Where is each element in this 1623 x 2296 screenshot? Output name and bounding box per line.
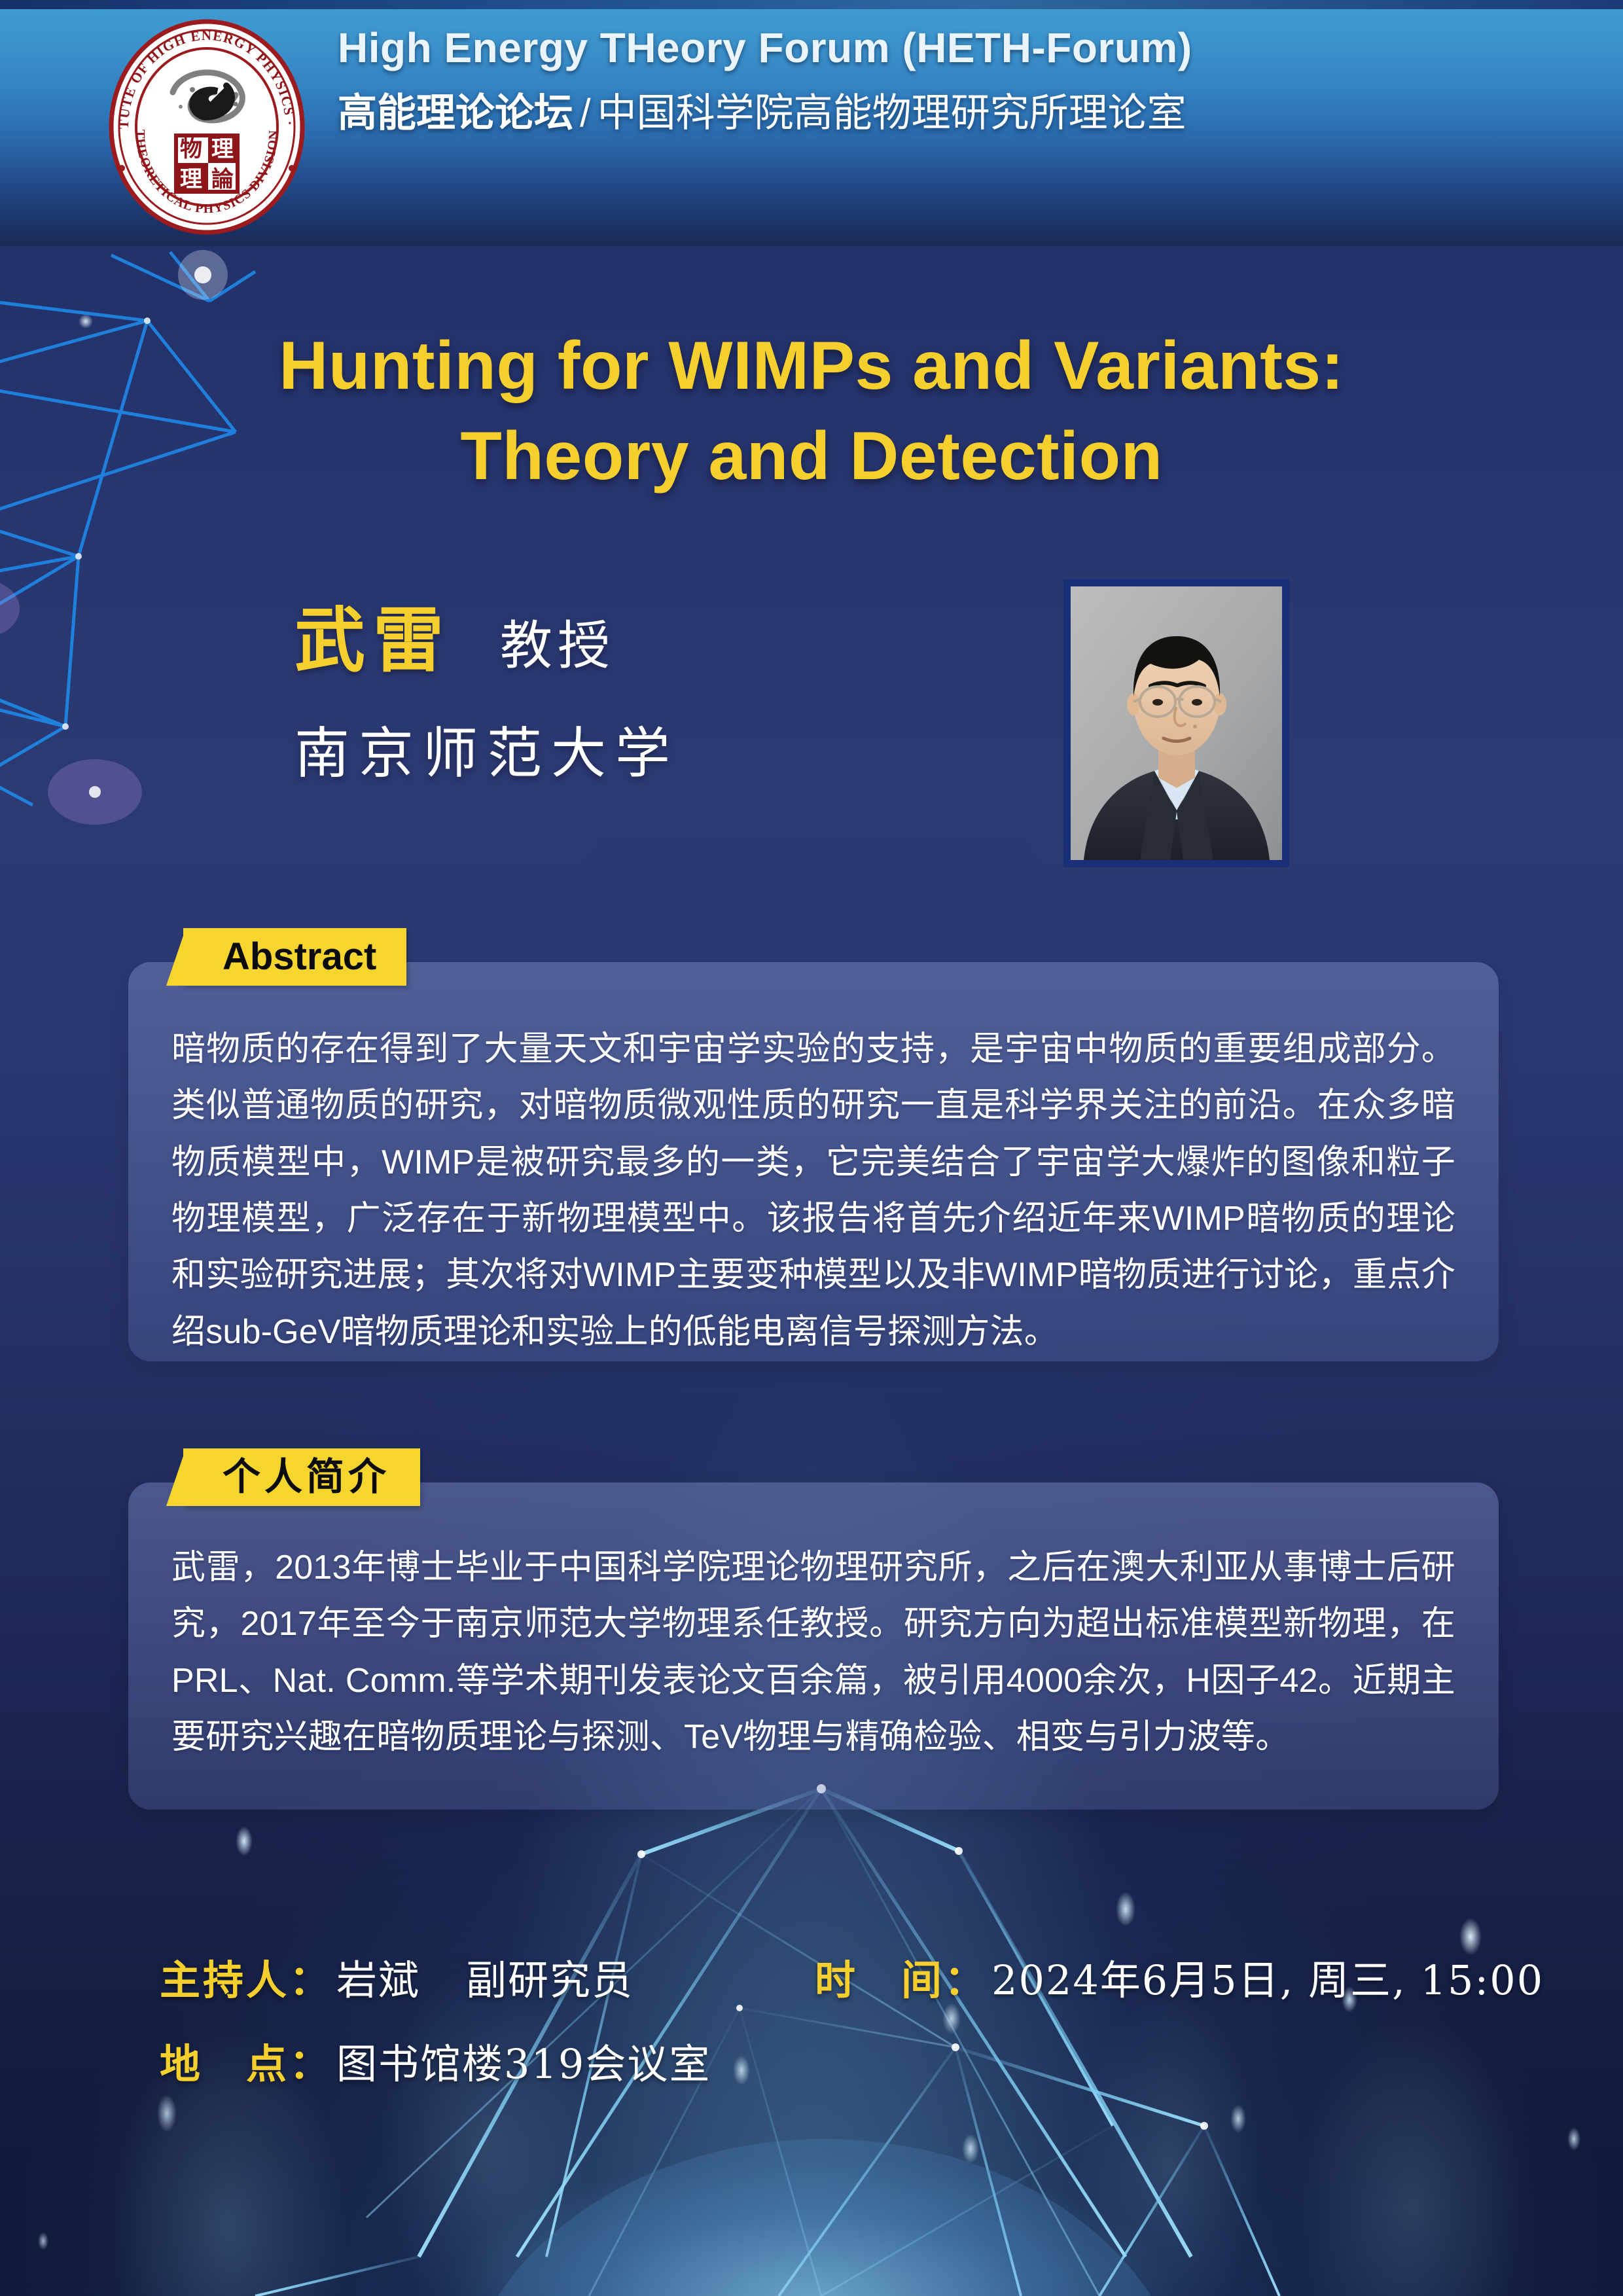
speaker-rank: 教授 bbox=[500, 620, 615, 676]
meta-host-title: 副研究员 bbox=[466, 1947, 633, 2006]
spark-dot bbox=[1116, 1892, 1135, 1927]
meta-host-value: 岩斌 bbox=[336, 1947, 420, 2006]
ihep-seal-logo-icon: INSTITUTE OF HIGH ENERGY PHYSICS · CAS ·… bbox=[109, 18, 305, 236]
talk-title-line-1: Hunting for WIMPs and Variants: bbox=[0, 321, 1623, 411]
header-institute-cn: 中国科学院高能物理研究所理论室 bbox=[597, 91, 1186, 135]
meta-place-value: 图书馆楼319会议室 bbox=[336, 2031, 711, 2090]
spark-dot bbox=[236, 1826, 253, 1856]
talk-title-line-2: Theory and Detection bbox=[0, 411, 1623, 501]
header-title-cn: 高能理论论坛/中国科学院高能物理研究所理论室 bbox=[338, 90, 1192, 135]
spark-dot bbox=[962, 2134, 979, 2164]
svg-text:論: 論 bbox=[211, 166, 234, 192]
meta-time-label: 时 间： bbox=[815, 1947, 988, 2006]
network-mesh-left-decoration bbox=[0, 216, 510, 903]
meta-place-row: 地 点： 图书馆楼319会议室 bbox=[160, 2031, 711, 2090]
abstract-body-text: 暗物质的存在得到了大量天文和宇宙学实验的支持，是宇宙中物质的重要组成部分。类似普… bbox=[171, 1021, 1455, 1360]
bio-body-text: 武雷，2013年博士毕业于中国科学院理论物理研究所，之后在澳大利亚从事博士后研究… bbox=[171, 1539, 1455, 1765]
bio-section-tag: 个人简介 bbox=[183, 1448, 420, 1506]
meta-time-row: 时 间： 2024年6月5日, 周三, 15:00 bbox=[815, 1947, 1544, 2006]
svg-text:物: 物 bbox=[180, 136, 202, 162]
abstract-section-tag: Abstract bbox=[183, 928, 406, 986]
meta-host-label: 主持人： bbox=[160, 1947, 332, 2006]
header-title-en: High Energy THeory Forum (HETH-Forum) bbox=[338, 25, 1192, 72]
speaker-portrait bbox=[1063, 579, 1289, 867]
meta-time-value: 2024年6月5日, 周三, 15:00 bbox=[991, 1947, 1544, 2006]
seminar-poster: INSTITUTE OF HIGH ENERGY PHYSICS · CAS ·… bbox=[0, 0, 1623, 2296]
svg-text:理: 理 bbox=[211, 136, 234, 162]
header-separator: / bbox=[573, 91, 597, 135]
speaker-affiliation: 南京师范大学 bbox=[294, 723, 679, 783]
speaker-name-row: 武雷 教授 bbox=[294, 605, 615, 676]
spark-dot bbox=[1567, 2127, 1580, 2151]
svg-text:理: 理 bbox=[180, 166, 202, 192]
spark-dot bbox=[1230, 2104, 1246, 2133]
header-forum-name-cn: 高能理论论坛 bbox=[338, 91, 573, 135]
event-meta: 主持人： 岩斌 副研究员 时 间： 2024年6月5日, 周三, 15:00 地… bbox=[0, 1947, 1623, 2104]
meta-host-row: 主持人： 岩斌 副研究员 bbox=[160, 1947, 633, 2006]
speaker-name: 武雷 bbox=[294, 605, 452, 676]
top-accent-strip bbox=[0, 0, 1623, 9]
page-title: Hunting for WIMPs and Variants: Theory a… bbox=[0, 321, 1623, 502]
spark-dot bbox=[38, 2232, 48, 2250]
poster-header: INSTITUTE OF HIGH ENERGY PHYSICS · CAS ·… bbox=[0, 9, 1623, 246]
meta-place-label: 地 点： bbox=[160, 2031, 332, 2090]
